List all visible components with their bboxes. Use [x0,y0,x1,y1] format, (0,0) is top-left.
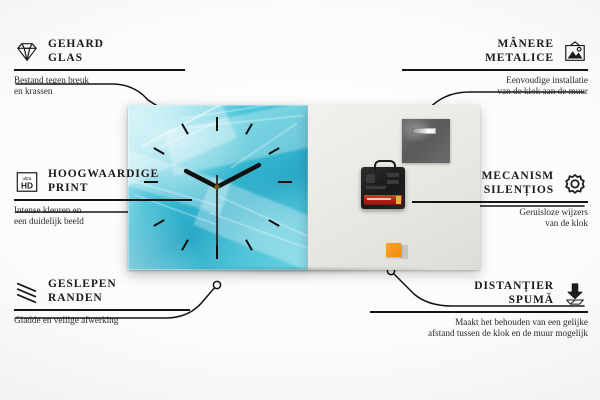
feature-foam-spacer: DISTANȚIER SPUMĂ Maakt het behouden van … [366,280,588,340]
feature-title: MECANISM SILENȚIOS [482,170,554,197]
feature-subtitle: Gladde en veilige afwerking [14,315,194,327]
feature-ground-edges: GESLEPEN RANDEN Gladde en veilige afwerk… [14,278,194,326]
feature-divider [402,69,588,71]
picture-frame-hanger-icon [562,40,588,64]
minute-hand [217,165,259,187]
feature-title: GESLEPEN RANDEN [48,278,117,305]
feature-subtitle: Geruisloze wijzers van de klok [408,207,588,230]
feature-tempered-glass: GEHARD GLAS Bestand tegen breuk en krass… [14,38,189,98]
clock-mechanism-box [361,167,405,209]
product-drop-shadow [130,268,482,277]
feature-subtitle: Intense kleuren en een duidelijk beeld [14,205,196,228]
connector-dot-ground-edges [213,281,220,288]
hanger-slot [412,128,436,134]
mechanism-hanging-loop [374,160,396,172]
feature-divider [412,201,588,203]
feature-silent-mechanism: MECANISM SILENȚIOS Geruisloze wijzers va… [408,170,588,230]
battery [364,195,402,205]
svg-text:HD: HD [21,180,33,190]
feature-divider [14,69,185,71]
arrow-down-to-surface-icon [562,282,588,306]
infographic-canvas: GEHARD GLAS Bestand tegen breuk en krass… [0,0,600,400]
diagonal-lines-icon [14,280,40,304]
feature-title: MÂNERE METALICE [485,38,554,65]
ultra-hd-icon: ultra HD [14,170,40,194]
foam-spacer [386,243,401,257]
feature-title: GEHARD GLAS [48,38,104,65]
feature-divider [14,309,190,311]
feature-title: HOOGWAARDIGE PRINT [48,168,159,195]
feature-title: DISTANȚIER SPUMĂ [474,280,554,307]
feature-subtitle: Maakt het behouden van een gelijke afsta… [366,317,588,340]
gear-icon [562,172,588,196]
metal-hanger-plate [402,119,450,163]
feature-divider [370,311,588,313]
feature-metal-hangers: MÂNERE METALICE Eenvoudige installatie v… [398,38,588,98]
hands-center-cap [214,184,219,189]
feature-divider [14,199,192,201]
diamond-icon [14,40,40,64]
feature-subtitle: Bestand tegen breuk en krassen [14,75,189,98]
feature-high-quality-print: ultra HD HOOGWAARDIGE PRINT Intense kleu… [14,168,196,228]
feature-subtitle: Eenvoudige installatie van de klok aan d… [398,75,588,98]
